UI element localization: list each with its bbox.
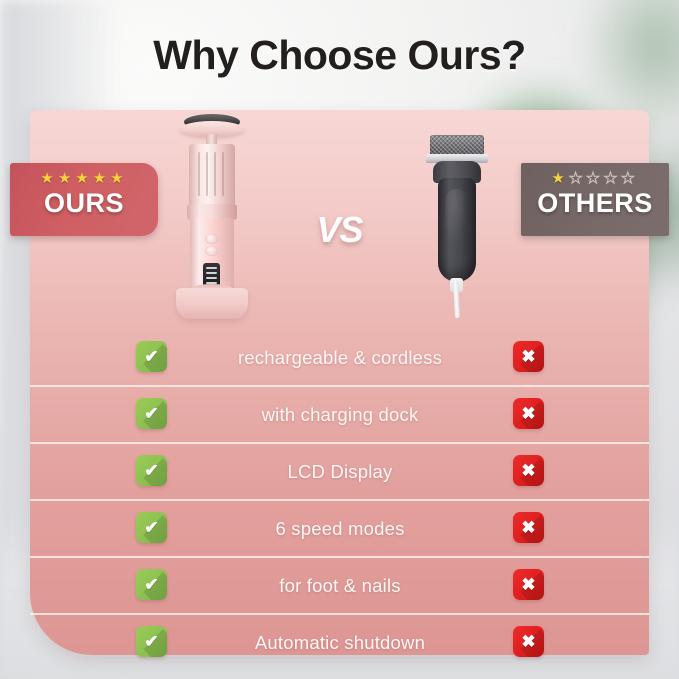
feature-label: Automatic shutdown — [180, 615, 500, 670]
comparison-infographic: Why Choose Ours? — [0, 0, 679, 679]
check-icon: ✔ — [136, 398, 167, 429]
ours-charging-dock — [176, 288, 248, 319]
feature-label: 6 speed modes — [180, 501, 500, 556]
others-roller-head — [430, 135, 484, 156]
vs-label: VS — [0, 209, 679, 251]
star-filled-icon: ★ — [551, 170, 568, 187]
ours-vent-slot — [198, 152, 200, 196]
star-empty-icon: ★ — [569, 170, 586, 187]
star-filled-icon: ★ — [58, 170, 75, 187]
check-icon: ✔ — [136, 569, 167, 600]
feature-row: ✔ Automatic shutdown ✖ — [30, 613, 649, 670]
cross-icon: ✖ — [513, 455, 544, 486]
check-icon: ✔ — [136, 512, 167, 543]
feature-label: for foot & nails — [180, 558, 500, 613]
cross-icon: ✖ — [513, 626, 544, 657]
cross-icon: ✖ — [513, 569, 544, 600]
check-icon: ✔ — [136, 455, 167, 486]
ours-upper-body — [189, 144, 235, 206]
cross-icon: ✖ — [513, 341, 544, 372]
ours-star-rating: ★★★★★ — [10, 171, 158, 186]
star-empty-icon: ★ — [586, 170, 603, 187]
check-icon: ✔ — [136, 626, 167, 657]
feature-comparison-list: ✔ rechargeable & cordless ✖ ✔ with charg… — [30, 330, 649, 670]
feature-row: ✔ with charging dock ✖ — [30, 385, 649, 442]
ours-vent-slot — [214, 152, 216, 196]
others-star-rating: ★★★★★ — [521, 171, 669, 186]
star-empty-icon: ★ — [604, 170, 621, 187]
feature-row: ✔ rechargeable & cordless ✖ — [30, 330, 649, 385]
page-title: Why Choose Ours? — [0, 32, 679, 79]
ours-lcd-bar — [206, 277, 217, 279]
feature-label: rechargeable & cordless — [180, 330, 500, 385]
cross-icon: ✖ — [513, 512, 544, 543]
check-icon: ✔ — [136, 341, 167, 372]
feature-label: with charging dock — [180, 387, 500, 442]
ours-vent-slot — [206, 152, 208, 196]
star-filled-icon: ★ — [110, 170, 127, 187]
star-empty-icon: ★ — [621, 170, 638, 187]
feature-row: ✔ LCD Display ✖ — [30, 442, 649, 499]
ours-lcd-bar — [206, 267, 217, 269]
star-filled-icon: ★ — [93, 170, 110, 187]
ours-vent-slot — [222, 152, 224, 196]
feature-row: ✔ 6 speed modes ✖ — [30, 499, 649, 556]
feature-row: ✔ for foot & nails ✖ — [30, 556, 649, 613]
cross-icon: ✖ — [513, 398, 544, 429]
star-filled-icon: ★ — [75, 170, 92, 187]
feature-label: LCD Display — [180, 444, 500, 499]
ours-lcd-bar — [206, 272, 217, 274]
star-filled-icon: ★ — [40, 170, 57, 187]
